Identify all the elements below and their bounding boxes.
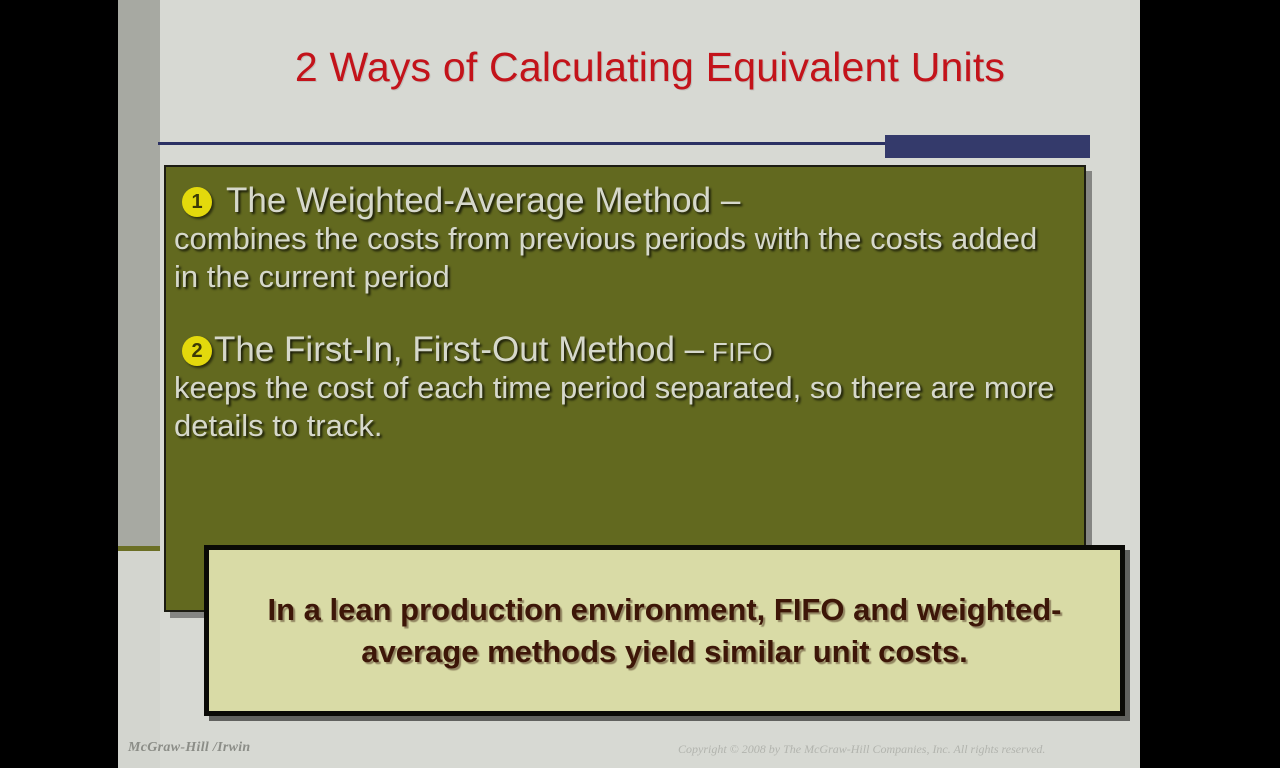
left-band-olive-cap: [118, 546, 160, 551]
method-item-fifo: 2The First-In, First-Out Method – FIFO k…: [174, 330, 1066, 445]
slide-stage: 2 Ways of Calculating Equivalent Units 1…: [0, 0, 1280, 768]
slide-canvas: 2 Ways of Calculating Equivalent Units 1…: [118, 0, 1140, 768]
method-heading-text: The Weighted-Average Method –: [226, 181, 740, 220]
left-decorative-band: [118, 0, 160, 546]
method-body-text: combines the costs from previous periods…: [174, 220, 1066, 296]
publisher-brand: McGraw-Hill /Irwin: [128, 740, 250, 756]
method-body-text: keeps the cost of each time period separ…: [174, 369, 1066, 445]
copyright-notice: Copyright © 2008 by The McGraw-Hill Comp…: [678, 742, 1045, 757]
method-acronym-text: FIFO: [704, 337, 773, 367]
method-heading-text: The First-In, First-Out Method –: [214, 330, 704, 369]
method-item-weighted-average: 1The Weighted-Average Method – combines …: [174, 181, 1066, 296]
method-heading-row: 2The First-In, First-Out Method – FIFO: [174, 330, 1066, 369]
right-letterbox-bar: [1140, 0, 1280, 768]
navy-accent-block: [885, 135, 1090, 158]
number-bullet-1-icon: 1: [182, 187, 212, 217]
callout-text: In a lean production environment, FIFO a…: [209, 589, 1120, 671]
page-title: 2 Ways of Calculating Equivalent Units: [160, 44, 1140, 91]
number-bullet-2-icon: 2: [182, 336, 212, 366]
callout-box: In a lean production environment, FIFO a…: [204, 545, 1125, 716]
slide-footer: McGraw-Hill /Irwin Copyright © 2008 by T…: [118, 736, 1140, 768]
method-heading-row: 1The Weighted-Average Method –: [174, 181, 1066, 220]
